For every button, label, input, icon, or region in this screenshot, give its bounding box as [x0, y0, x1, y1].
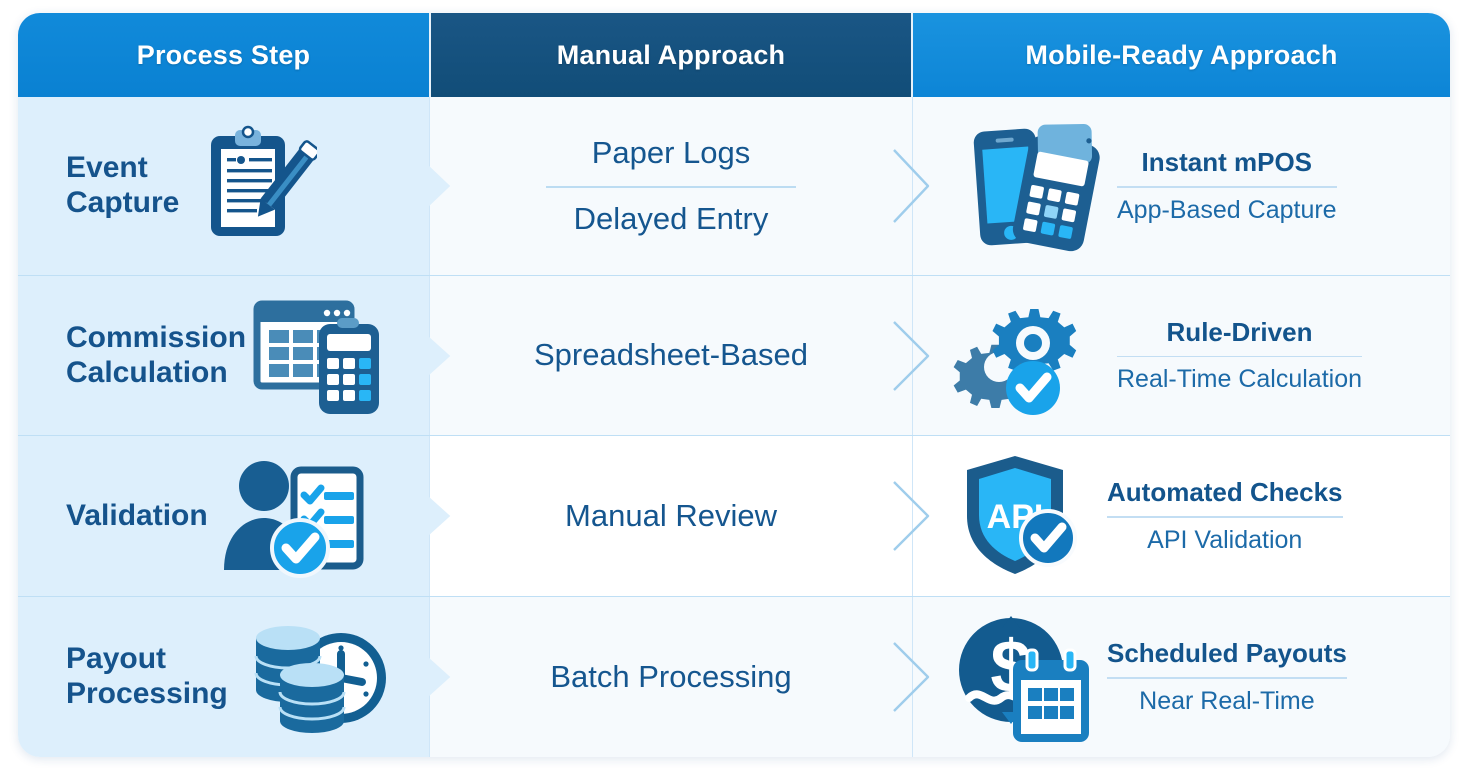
clipboard-pencil-icon: [189, 122, 317, 250]
table-row: Commission Calculation: [18, 275, 1450, 435]
smartphone-pos-terminal-icon: [953, 116, 1103, 256]
step-label-line-2: Capture: [66, 186, 179, 221]
step-label-line-2: Processing: [66, 677, 228, 712]
table-row: Payout Processing: [18, 596, 1450, 757]
manual-primary-label: Batch Processing: [550, 658, 791, 697]
step-label-line-2: Calculation: [66, 356, 241, 391]
mobile-subtitle-label: Real-Time Calculation: [1117, 364, 1362, 394]
manual-primary-label: Paper Logs: [592, 134, 751, 173]
process-step-label: Event Capture: [66, 151, 179, 221]
process-step-label: Payout Processing: [66, 642, 228, 712]
api-shield-check-icon: API: [953, 450, 1093, 582]
coins-clock-icon: [238, 612, 388, 742]
manual-approach-cell: Spreadsheet-Based: [429, 276, 913, 435]
comparison-table-card: Process Step Manual Approach Mobile-Read…: [18, 13, 1450, 757]
person-checklist-icon: [218, 452, 368, 580]
step-label-line-1: Payout: [66, 642, 228, 677]
mobile-ready-cell: Rule-Driven Real-Time Calculation: [913, 276, 1450, 435]
table-row: Validation: [18, 435, 1450, 596]
process-step-cell: Event Capture: [18, 97, 429, 275]
column-header-mobile-ready-approach: Mobile-Ready Approach: [913, 13, 1450, 97]
mobile-subtitle-label: App-Based Capture: [1117, 195, 1337, 225]
mobile-divider: [1117, 186, 1337, 188]
table-header-row: Process Step Manual Approach Mobile-Read…: [18, 13, 1450, 97]
process-step-cell: Commission Calculation: [18, 276, 429, 435]
step-label-line-1: Event: [66, 151, 179, 186]
manual-approach-cell: Batch Processing: [429, 597, 913, 757]
mobile-title-label: Scheduled Payouts: [1107, 638, 1347, 669]
mobile-subtitle-label: API Validation: [1147, 525, 1302, 555]
manual-primary-label: Spreadsheet-Based: [534, 336, 808, 375]
mobile-title-label: Rule-Driven: [1167, 317, 1313, 348]
mobile-title-label: Automated Checks: [1107, 477, 1343, 508]
mobile-title-label: Instant mPOS: [1142, 147, 1312, 178]
infographic-canvas: Process Step Manual Approach Mobile-Read…: [0, 0, 1468, 775]
spreadsheet-calculator-icon: [251, 294, 385, 418]
mobile-ready-cell: Instant mPOS App-Based Capture: [913, 97, 1450, 275]
process-step-cell: Payout Processing: [18, 597, 429, 757]
mobile-ready-cell: $: [913, 597, 1450, 757]
dollar-calendar-icon: $: [953, 610, 1093, 744]
column-header-process-step: Process Step: [18, 13, 429, 97]
mobile-divider: [1117, 356, 1362, 358]
manual-divider: [546, 186, 796, 188]
manual-approach-cell: Manual Review: [429, 436, 913, 596]
manual-secondary-label: Delayed Entry: [574, 200, 769, 239]
gears-check-icon: [953, 291, 1103, 421]
table-body: Event Capture: [18, 97, 1450, 757]
manual-primary-label: Manual Review: [565, 497, 777, 536]
mobile-subtitle-label: Near Real-Time: [1139, 686, 1315, 716]
process-step-cell: Validation: [18, 436, 429, 596]
process-step-label: Validation: [66, 499, 208, 534]
column-header-manual-approach: Manual Approach: [429, 13, 913, 97]
step-label-line-1: Commission: [66, 321, 241, 356]
mobile-divider: [1107, 516, 1343, 518]
mobile-ready-cell: API Automated Checks API Validation: [913, 436, 1450, 596]
mobile-divider: [1107, 677, 1347, 679]
process-step-label: Commission Calculation: [66, 321, 241, 391]
table-row: Event Capture: [18, 97, 1450, 275]
manual-approach-cell: Paper Logs Delayed Entry: [429, 97, 913, 275]
step-label-line-1: Validation: [66, 499, 208, 534]
